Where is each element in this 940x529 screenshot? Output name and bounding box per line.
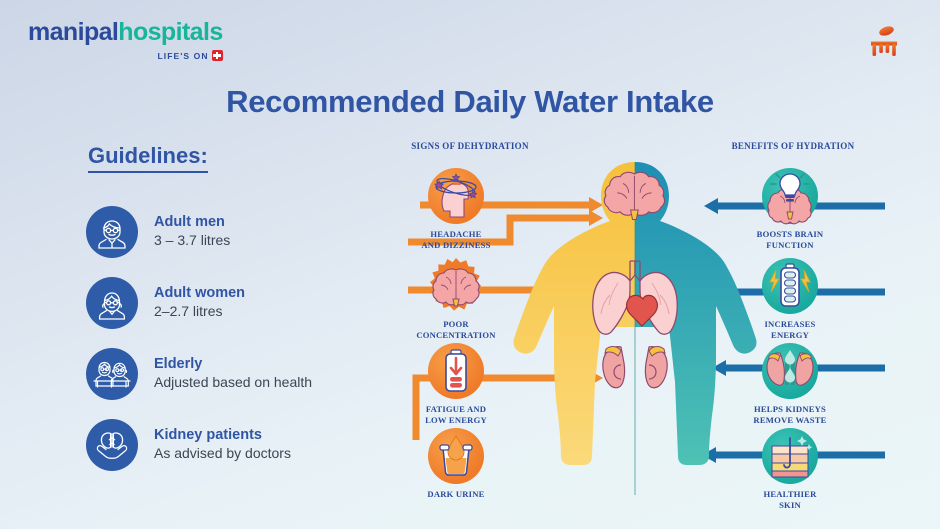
guideline-item-elderly: Elderly Adjusted based on health — [86, 338, 416, 409]
label-line-1: HELPS KIDNEYS — [754, 404, 826, 414]
headache-dizziness-icon — [428, 168, 484, 224]
hydration-item-skin[interactable]: HEALTHIER SKIN — [742, 428, 838, 510]
hydration-item-kidneys[interactable]: HELPS KIDNEYS REMOVE WASTE — [742, 343, 838, 425]
label-line-2: REMOVE WASTE — [753, 415, 826, 425]
dehydration-item-poor-concentration[interactable]: POOR CONCENTRATION — [408, 258, 504, 340]
adult-man-icon — [86, 206, 138, 258]
healthy-skin-icon — [762, 428, 818, 484]
label-line-2: SKIN — [779, 500, 801, 510]
guideline-detail: 2–2.7 litres — [154, 302, 245, 320]
guideline-text-elderly: Elderly Adjusted based on health — [154, 355, 312, 391]
guideline-detail: 3 – 3.7 litres — [154, 231, 230, 249]
dark-urine-cup-icon — [428, 428, 484, 484]
page-title: Recommended Daily Water Intake — [0, 84, 940, 120]
guidelines-list: Adult men 3 – 3.7 litres Adult women — [86, 196, 416, 480]
label-line-2: ENERGY — [771, 330, 809, 340]
label-line-1: POOR — [443, 319, 469, 329]
dehydration-item-label: HEADACHE AND DIZZINESS — [408, 229, 504, 250]
label-line-1: INCREASES — [765, 319, 816, 329]
guideline-item-adult-women: Adult women 2–2.7 litres — [86, 267, 416, 338]
manipal-hospitals-logo[interactable]: manipalhospitals LIFE'S ON — [28, 20, 223, 61]
label-line-2: AND DIZZINESS — [421, 240, 490, 250]
red-cross-icon — [212, 50, 223, 61]
guideline-detail: As advised by doctors — [154, 444, 291, 462]
guideline-title: Kidney patients — [154, 426, 291, 444]
label-line-2: FUNCTION — [766, 240, 813, 250]
dehydration-item-label: DARK URINE — [408, 489, 504, 500]
brain-lightbulb-icon — [762, 168, 818, 224]
guideline-text-adult-women: Adult women 2–2.7 litres — [154, 284, 245, 320]
label-line-1: BOOSTS BRAIN — [757, 229, 824, 239]
brain-organ-icon — [604, 172, 664, 219]
guidelines-heading: Guidelines: — [88, 143, 208, 173]
adult-woman-icon — [86, 277, 138, 329]
hydration-item-label: HELPS KIDNEYS REMOVE WASTE — [742, 404, 838, 425]
kidneys-water-icon — [762, 343, 818, 399]
dehydration-item-headache[interactable]: HEADACHE AND DIZZINESS — [408, 168, 504, 250]
logo-tagline-row: LIFE'S ON — [28, 50, 223, 61]
guideline-text-adult-men: Adult men 3 – 3.7 litres — [154, 213, 230, 249]
hydration-item-energy[interactable]: INCREASES ENERGY — [742, 258, 838, 340]
manipal-brandmark-icon — [864, 22, 904, 62]
guideline-title: Adult men — [154, 213, 230, 231]
hydration-item-brain-function[interactable]: BOOSTS BRAIN FUNCTION — [742, 168, 838, 250]
label-line-1: DARK URINE — [427, 489, 484, 499]
label-line-1: HEADACHE — [430, 229, 481, 239]
dehydration-item-dark-urine[interactable]: DARK URINE — [408, 428, 504, 500]
logo-word-manipal: manipal — [28, 18, 118, 46]
guideline-item-kidney-patients: Kidney patients As advised by doctors — [86, 409, 416, 480]
guideline-detail: Adjusted based on health — [154, 373, 312, 391]
infographic-canvas: manipalhospitals LIFE'S ON Recommended D… — [0, 0, 940, 529]
logo-wordmark: manipalhospitals — [28, 20, 223, 45]
label-line-1: HEALTHIER — [763, 489, 816, 499]
hydration-item-label: BOOSTS BRAIN FUNCTION — [742, 229, 838, 250]
charged-battery-icon — [762, 258, 818, 314]
dehydration-item-label: FATIGUE AND LOW ENERGY — [408, 404, 504, 425]
hydration-item-label: INCREASES ENERGY — [742, 319, 838, 340]
low-battery-icon — [428, 343, 484, 399]
guideline-title: Elderly — [154, 355, 312, 373]
guideline-item-adult-men: Adult men 3 – 3.7 litres — [86, 196, 416, 267]
kidneys-in-hands-icon — [86, 419, 138, 471]
brain-poor-focus-icon — [428, 258, 484, 314]
label-line-2: CONCENTRATION — [416, 330, 495, 340]
hydration-item-label: HEALTHIER SKIN — [742, 489, 838, 510]
guideline-title: Adult women — [154, 284, 245, 302]
logo-word-hospitals: hospitals — [118, 18, 222, 46]
elderly-couple-icon — [86, 348, 138, 400]
label-line-2: LOW ENERGY — [425, 415, 487, 425]
guideline-text-kidney-patients: Kidney patients As advised by doctors — [154, 426, 291, 462]
logo-tagline-text: LIFE'S ON — [158, 51, 209, 61]
label-line-1: FATIGUE AND — [426, 404, 486, 414]
dehydration-item-label: POOR CONCENTRATION — [408, 319, 504, 340]
dehydration-item-fatigue[interactable]: FATIGUE AND LOW ENERGY — [408, 343, 504, 425]
